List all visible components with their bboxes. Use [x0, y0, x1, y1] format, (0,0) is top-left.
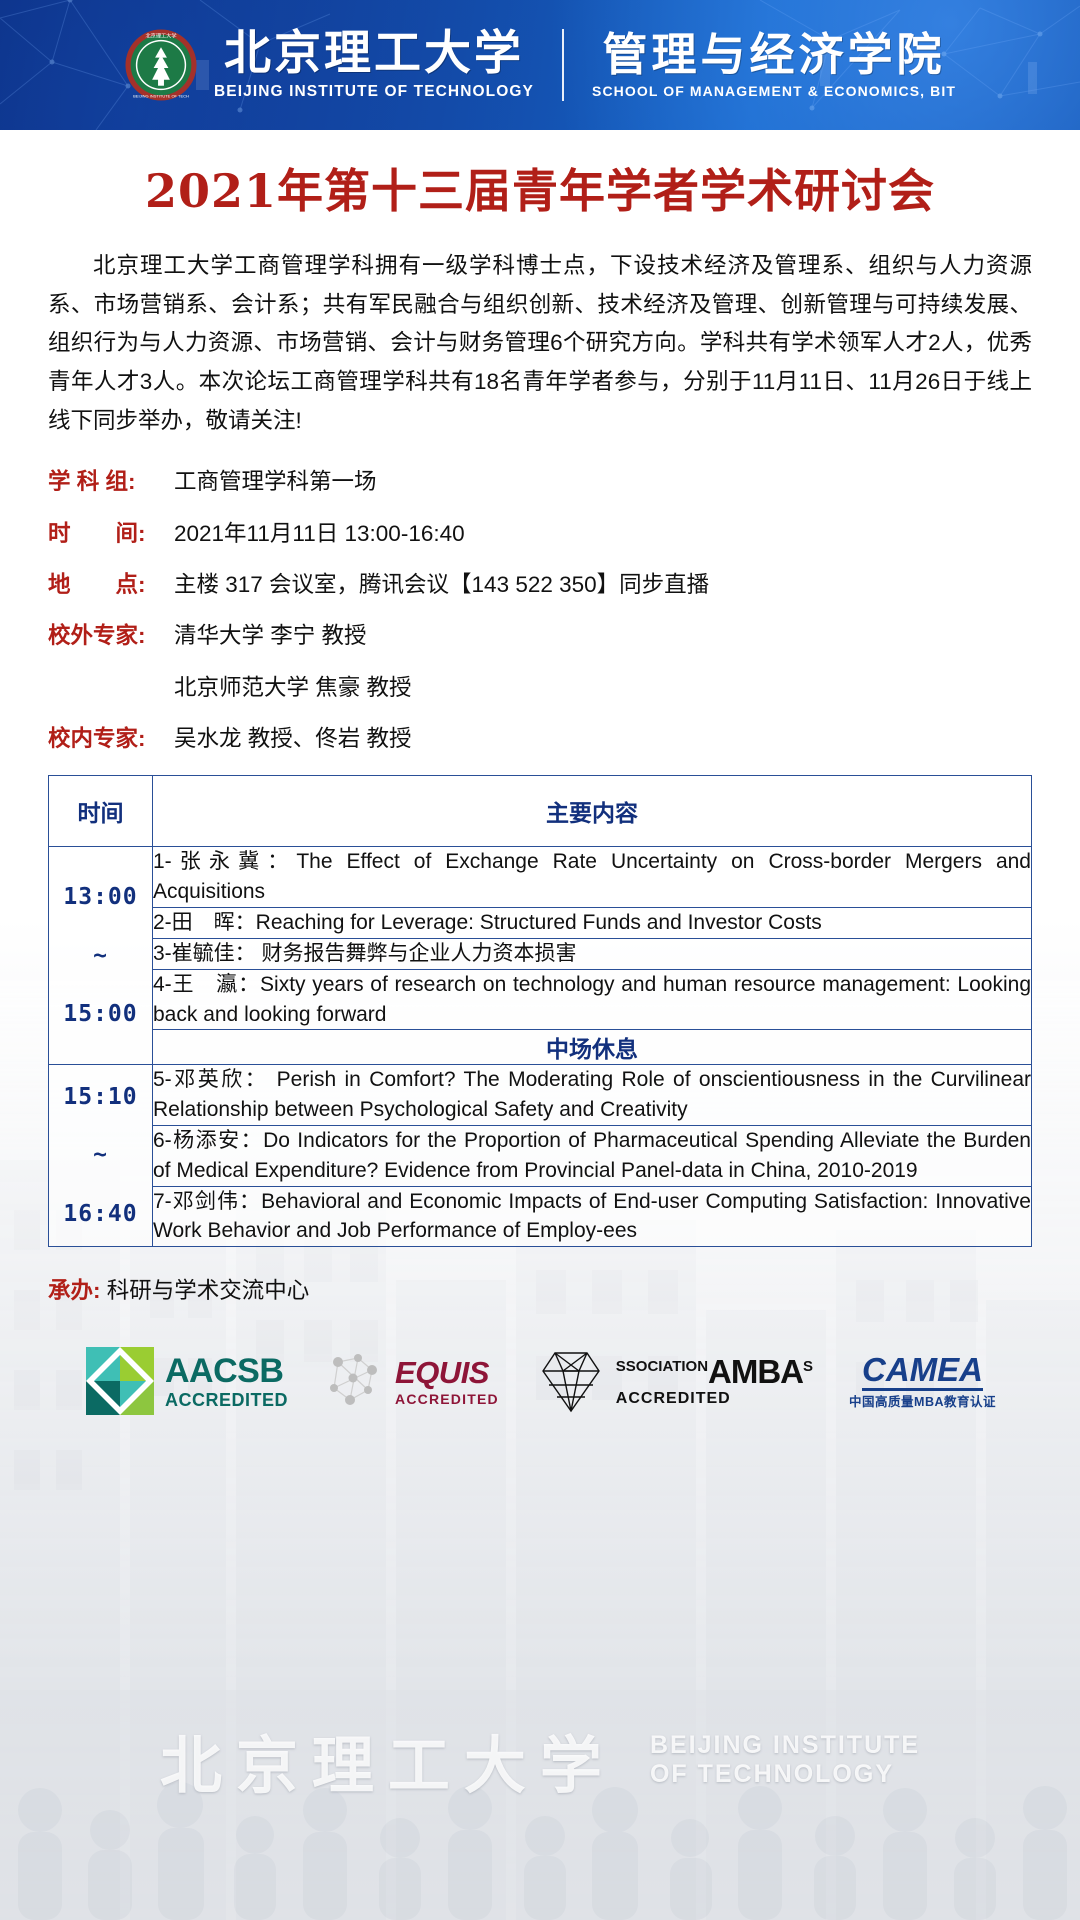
amba-main: AMBA	[708, 1353, 803, 1390]
school-name-cn: 管理与经济学院	[602, 32, 945, 77]
time-cell-block-1: 13:00 ~ 15:00	[49, 847, 153, 1065]
info-row-time: 时 间: 2021年11月11日 13:00-16:40	[48, 519, 1032, 549]
table-row: 7-邓剑伟：Behavioral and Economic Impacts of…	[49, 1186, 1032, 1247]
info-row-external-expert-1: 校外专家: 清华大学 李宁 教授	[48, 621, 1032, 651]
organizer-label: 承办:	[48, 1278, 101, 1303]
info-label-time: 时 间:	[48, 519, 174, 549]
info-row-subject: 学 科 组: 工商管理学科第一场	[48, 467, 1032, 497]
time-dash-2: ~	[93, 1142, 108, 1168]
organizer-line: 承办: 科研与学术交流中心	[48, 1273, 1032, 1305]
info-value-external-expert-2: 北京师范大学 焦豪 教授	[174, 673, 412, 703]
amba-suffix: S	[803, 1358, 813, 1375]
accreditation-camea: CAMEA 中国高质量MBA教育认证	[849, 1353, 996, 1409]
table-header-row: 时间 主要内容	[49, 776, 1032, 847]
amba-diamond-icon	[535, 1345, 607, 1417]
topic-cell-1: 1-张永冀：The Effect of Exchange Rate Uncert…	[153, 847, 1032, 908]
header-banner: 北京理工大学 BEIJING INSTITUTE OF TECH 北京理工大学 …	[0, 0, 1080, 130]
info-label-location: 地 点:	[48, 570, 174, 600]
time-cell-block-2: 15:10 ~ 16:40	[49, 1065, 153, 1247]
intro-paragraph: 北京理工大学工商管理学科拥有一级学科博士点，下设技术经济及管理系、组织与人力资源…	[48, 247, 1032, 442]
aacsb-sub: ACCREDITED	[165, 1391, 288, 1409]
university-name-block: 北京理工大学 BEIJING INSTITUTE OF TECHNOLOGY	[214, 30, 534, 100]
info-value-time: 2021年11月11日 13:00-16:40	[174, 519, 465, 549]
amba-name: SSOCIATIONAMBAS	[616, 1355, 813, 1388]
table-row-break: 中场休息	[49, 1030, 1032, 1065]
topic-cell-6: 6-杨添安：Do Indicators for the Proportion o…	[153, 1125, 1032, 1186]
aacsb-logo-icon	[84, 1345, 156, 1417]
table-row: 15:10 ~ 16:40 5-邓英欣： Perish in Comfort? …	[49, 1065, 1032, 1126]
topic-cell-5: 5-邓英欣： Perish in Comfort? The Moderating…	[153, 1065, 1032, 1126]
logo-divider	[562, 29, 564, 101]
amba-prefix: SSOCIATION	[616, 1358, 708, 1375]
bit-crest-icon: 北京理工大学 BEIJING INSTITUTE OF TECH	[124, 28, 198, 102]
equis-sub: ACCREDITED	[395, 1392, 499, 1406]
info-row-internal-expert: 校内专家: 吴水龙 教授、佟岩 教授	[48, 724, 1032, 754]
intermission-cell: 中场休息	[153, 1030, 1032, 1065]
table-header-content: 主要内容	[153, 776, 1032, 847]
organizer-value: 科研与学术交流中心	[107, 1278, 310, 1303]
table-row: 6-杨添安：Do Indicators for the Proportion o…	[49, 1125, 1032, 1186]
topic-cell-4: 4-王 瀛：Sixty years of research on technol…	[153, 969, 1032, 1030]
info-row-location: 地 点: 主楼 317 会议室，腾讯会议【143 522 350】同步直播	[48, 570, 1032, 600]
table-row: 13:00 ~ 15:00 1-张永冀：The Effect of Exchan…	[49, 847, 1032, 908]
time-dash-1: ~	[93, 943, 108, 969]
info-value-subject: 工商管理学科第一场	[174, 467, 377, 497]
schedule-table: 时间 主要内容 13:00 ~ 15:00 1-张永冀：The Effect o…	[48, 775, 1032, 1247]
time-end-2: 16:40	[63, 1201, 137, 1227]
accreditation-equis: EQUIS ACCREDITED	[324, 1350, 499, 1412]
equis-logo-icon	[324, 1350, 386, 1412]
topic-cell-7: 7-邓剑伟：Behavioral and Economic Impacts of…	[153, 1186, 1032, 1247]
camea-sub: 中国高质量MBA教育认证	[849, 1396, 996, 1409]
info-label-external-expert-spacer: 校外专家:	[48, 673, 174, 703]
topic-cell-3: 3-崔毓佳： 财务报告舞弊与企业人力资本损害	[153, 938, 1032, 969]
info-row-external-expert-2: 校外专家: 北京师范大学 焦豪 教授	[48, 673, 1032, 703]
time-end-1: 15:00	[63, 1001, 137, 1027]
table-header-time: 时间	[49, 776, 153, 847]
time-start-2: 15:10	[63, 1084, 137, 1110]
info-value-external-expert-1: 清华大学 李宁 教授	[174, 621, 367, 651]
school-name-en: SCHOOL OF MANAGEMENT & ECONOMICS, BIT	[592, 84, 956, 98]
university-name-en: BEIJING INSTITUTE OF TECHNOLOGY	[214, 84, 534, 100]
info-value-location: 主楼 317 会议室，腾讯会议【143 522 350】同步直播	[174, 570, 709, 600]
time-start-1: 13:00	[63, 884, 137, 910]
svg-text:BEIJING INSTITUTE OF TECH: BEIJING INSTITUTE OF TECH	[133, 94, 189, 99]
crowd-background-image	[0, 1690, 1080, 1920]
accreditation-aacsb: AACSB ACCREDITED	[84, 1345, 288, 1417]
poster-content: 2021年第十三届青年学者学术研讨会 北京理工大学工商管理学科拥有一级学科博士点…	[0, 166, 1080, 1247]
info-label-external-expert: 校外专家:	[48, 621, 174, 651]
aacsb-name: AACSB	[165, 1354, 288, 1388]
topic-cell-2: 2-田 晖：Reaching for Leverage: Structured …	[153, 908, 1032, 939]
info-value-internal-expert: 吴水龙 教授、佟岩 教授	[174, 724, 412, 754]
info-label-internal-expert: 校内专家:	[48, 724, 174, 754]
table-row: 4-王 瀛：Sixty years of research on technol…	[49, 969, 1032, 1030]
info-list: 学 科 组: 工商管理学科第一场 时 间: 2021年11月11日 13:00-…	[48, 467, 1032, 754]
university-name-cn: 北京理工大学	[224, 30, 524, 77]
page-title: 2021年第十三届青年学者学术研讨会	[48, 166, 1032, 217]
accreditation-logos: AACSB ACCREDITED EQUIS ACCREDITED	[0, 1345, 1080, 1417]
table-row: 3-崔毓佳： 财务报告舞弊与企业人力资本损害	[49, 938, 1032, 969]
amba-sub: ACCREDITED	[616, 1391, 813, 1407]
table-row: 2-田 晖：Reaching for Leverage: Structured …	[49, 908, 1032, 939]
info-label-subject: 学 科 组:	[48, 467, 174, 497]
poster-page: 北京理工大学 BEIJING INSTITUTE OF TECHNOLOGY	[0, 0, 1080, 1920]
accreditation-amba: SSOCIATIONAMBAS ACCREDITED	[535, 1345, 813, 1417]
school-name-block: 管理与经济学院 SCHOOL OF MANAGEMENT & ECONOMICS…	[592, 32, 956, 98]
camea-name: CAMEA	[862, 1353, 983, 1391]
equis-name: EQUIS	[395, 1357, 499, 1388]
